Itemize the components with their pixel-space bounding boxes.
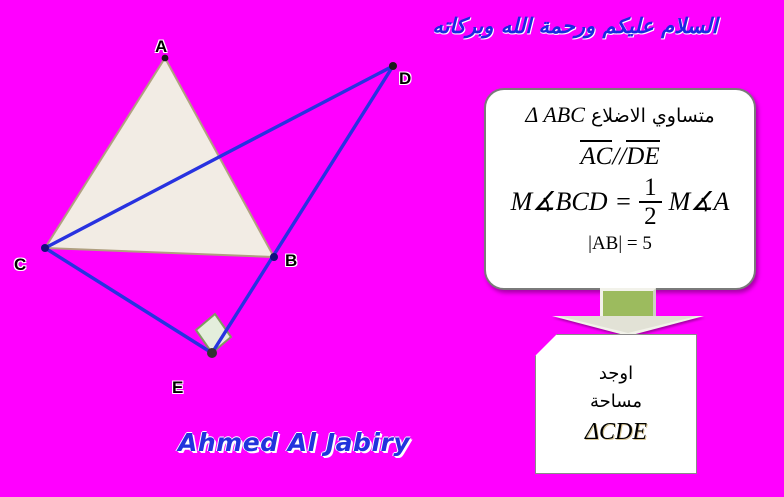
down-arrow-head-inner (559, 316, 697, 333)
givens-card: متساوي الاضلاع Δ ABC AC//DE M∡BCD = 1 2 … (484, 88, 756, 290)
given-equilateral: متساوي الاضلاع Δ ABC (486, 102, 754, 128)
vertex-dot-e[interactable] (207, 348, 217, 358)
given-length-ab: |AB| = 5 (486, 233, 754, 255)
question-line-2: مساحة (590, 391, 642, 412)
question-line-3: ΔCDE (585, 419, 647, 446)
question-line-1: اوجد (599, 363, 633, 384)
vertex-label-d: D (399, 70, 411, 87)
vertex-label-b: B (285, 252, 297, 269)
vertex-dot-b[interactable] (270, 253, 278, 261)
segment-ce (45, 248, 212, 353)
arabic-greeting: السلام عليكم ورحمة الله وبركاته (380, 14, 770, 38)
given-parallel-left: AC (580, 140, 612, 171)
given-angle-relation: M∡BCD = 1 2 M∡A (486, 175, 754, 229)
vertex-dot-d[interactable] (389, 62, 397, 70)
vertex-label-a: A (155, 38, 167, 55)
given-equilateral-arabic: متساوي الاضلاع (591, 105, 715, 127)
given-parallel-operator: // (612, 143, 626, 170)
vertex-dot-c[interactable] (41, 244, 49, 252)
given-parallel: AC//DE (486, 140, 754, 171)
given-angle-left: M∡BCD (511, 187, 608, 217)
geometry-canvas: A B C D E السلام عليكم ورحمة الله وبركات… (0, 0, 784, 497)
given-equilateral-math: Δ ABC (525, 102, 585, 128)
given-parallel-right: DE (626, 140, 659, 171)
question-card: اوجد مساحة ΔCDE (535, 334, 697, 474)
fraction-denominator: 2 (639, 204, 662, 229)
triangle-abc (45, 58, 274, 257)
vertex-label-c: C (14, 256, 26, 273)
author-signature: Ahmed Al Jabiry (178, 428, 410, 457)
given-angle-equals: = (615, 187, 633, 217)
fraction-numerator: 1 (639, 175, 662, 200)
given-angle-fraction: 1 2 (639, 175, 662, 229)
given-angle-right: M∡A (669, 187, 730, 217)
vertex-label-e: E (172, 379, 183, 396)
